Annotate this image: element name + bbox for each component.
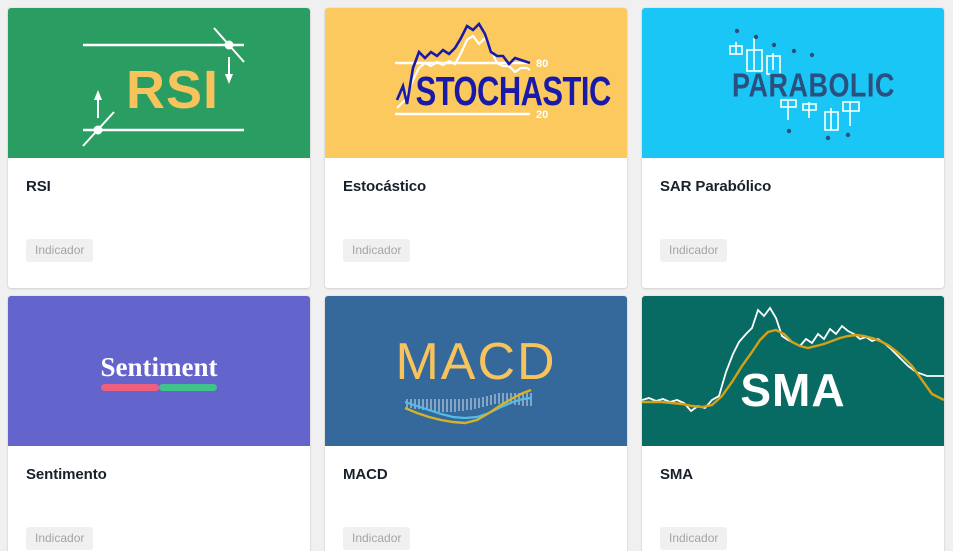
- status-badge: Indicador: [26, 527, 93, 550]
- indicator-card-rsi[interactable]: RSI RSI Indicador: [8, 8, 310, 288]
- svg-text:Sentiment: Sentiment: [101, 352, 218, 382]
- indicator-card-sentimento[interactable]: Sentiment Sentimento Indicador: [8, 296, 310, 551]
- badge-row: Indicador: [26, 239, 292, 288]
- badge-row: Indicador: [660, 527, 926, 551]
- svg-text:MACD: MACD: [395, 333, 556, 391]
- card-body: Estocástico Indicador: [325, 158, 627, 288]
- svg-text:SMA: SMA: [740, 364, 845, 416]
- card-title: RSI: [26, 178, 292, 196]
- sentiment-thumbnail[interactable]: Sentiment: [8, 296, 310, 446]
- stochastic-thumbnail[interactable]: 80 20 STOCHASTIC: [325, 8, 627, 158]
- macd-graphic: MACD: [325, 296, 627, 446]
- badge-row: Indicador: [343, 239, 609, 288]
- indicator-card-sma[interactable]: SMA SMA Indicador: [642, 296, 944, 551]
- card-title: MACD: [343, 466, 609, 484]
- badge-row: Indicador: [26, 527, 292, 551]
- card-body: SMA Indicador: [642, 446, 944, 551]
- badge-row: Indicador: [660, 239, 926, 288]
- indicator-card-macd[interactable]: MACD: [325, 296, 627, 551]
- card-title: Estocástico: [343, 178, 609, 196]
- card-title: SAR Parabólico: [660, 178, 926, 196]
- parabolic-graphic: PARABOLIC: [642, 8, 944, 158]
- card-title: Sentimento: [26, 466, 292, 484]
- indicator-card-estocastico[interactable]: 80 20 STOCHASTIC Estocástico Indicador: [325, 8, 627, 288]
- sma-graphic: SMA: [642, 296, 944, 446]
- svg-text:PARABOLIC: PARABOLIC: [732, 67, 895, 105]
- svg-text:RSI: RSI: [126, 60, 219, 120]
- macd-thumbnail[interactable]: MACD: [325, 296, 627, 446]
- status-badge: Indicador: [343, 527, 410, 550]
- card-body: RSI Indicador: [8, 158, 310, 288]
- stochastic-graphic: 80 20 STOCHASTIC: [325, 8, 627, 158]
- indicator-card-grid: RSI RSI Indicador 80 20 STOCHASTIC E: [0, 0, 953, 551]
- badge-row: Indicador: [343, 527, 609, 551]
- parabolic-thumbnail[interactable]: PARABOLIC: [642, 8, 944, 158]
- card-body: MACD Indicador: [325, 446, 627, 551]
- svg-text:STOCHASTIC: STOCHASTIC: [416, 68, 612, 114]
- card-title: SMA: [660, 466, 926, 484]
- sma-thumbnail[interactable]: SMA: [642, 296, 944, 446]
- status-badge: Indicador: [660, 527, 727, 550]
- card-body: Sentimento Indicador: [8, 446, 310, 551]
- rsi-graphic: RSI: [8, 8, 310, 158]
- sentiment-graphic: Sentiment: [8, 296, 310, 446]
- card-body: SAR Parabólico Indicador: [642, 158, 944, 288]
- rsi-thumbnail[interactable]: RSI: [8, 8, 310, 158]
- status-badge: Indicador: [343, 239, 410, 262]
- status-badge: Indicador: [26, 239, 93, 262]
- indicator-card-sar-parabolico[interactable]: PARABOLIC SAR Parabólico Indicador: [642, 8, 944, 288]
- status-badge: Indicador: [660, 239, 727, 262]
